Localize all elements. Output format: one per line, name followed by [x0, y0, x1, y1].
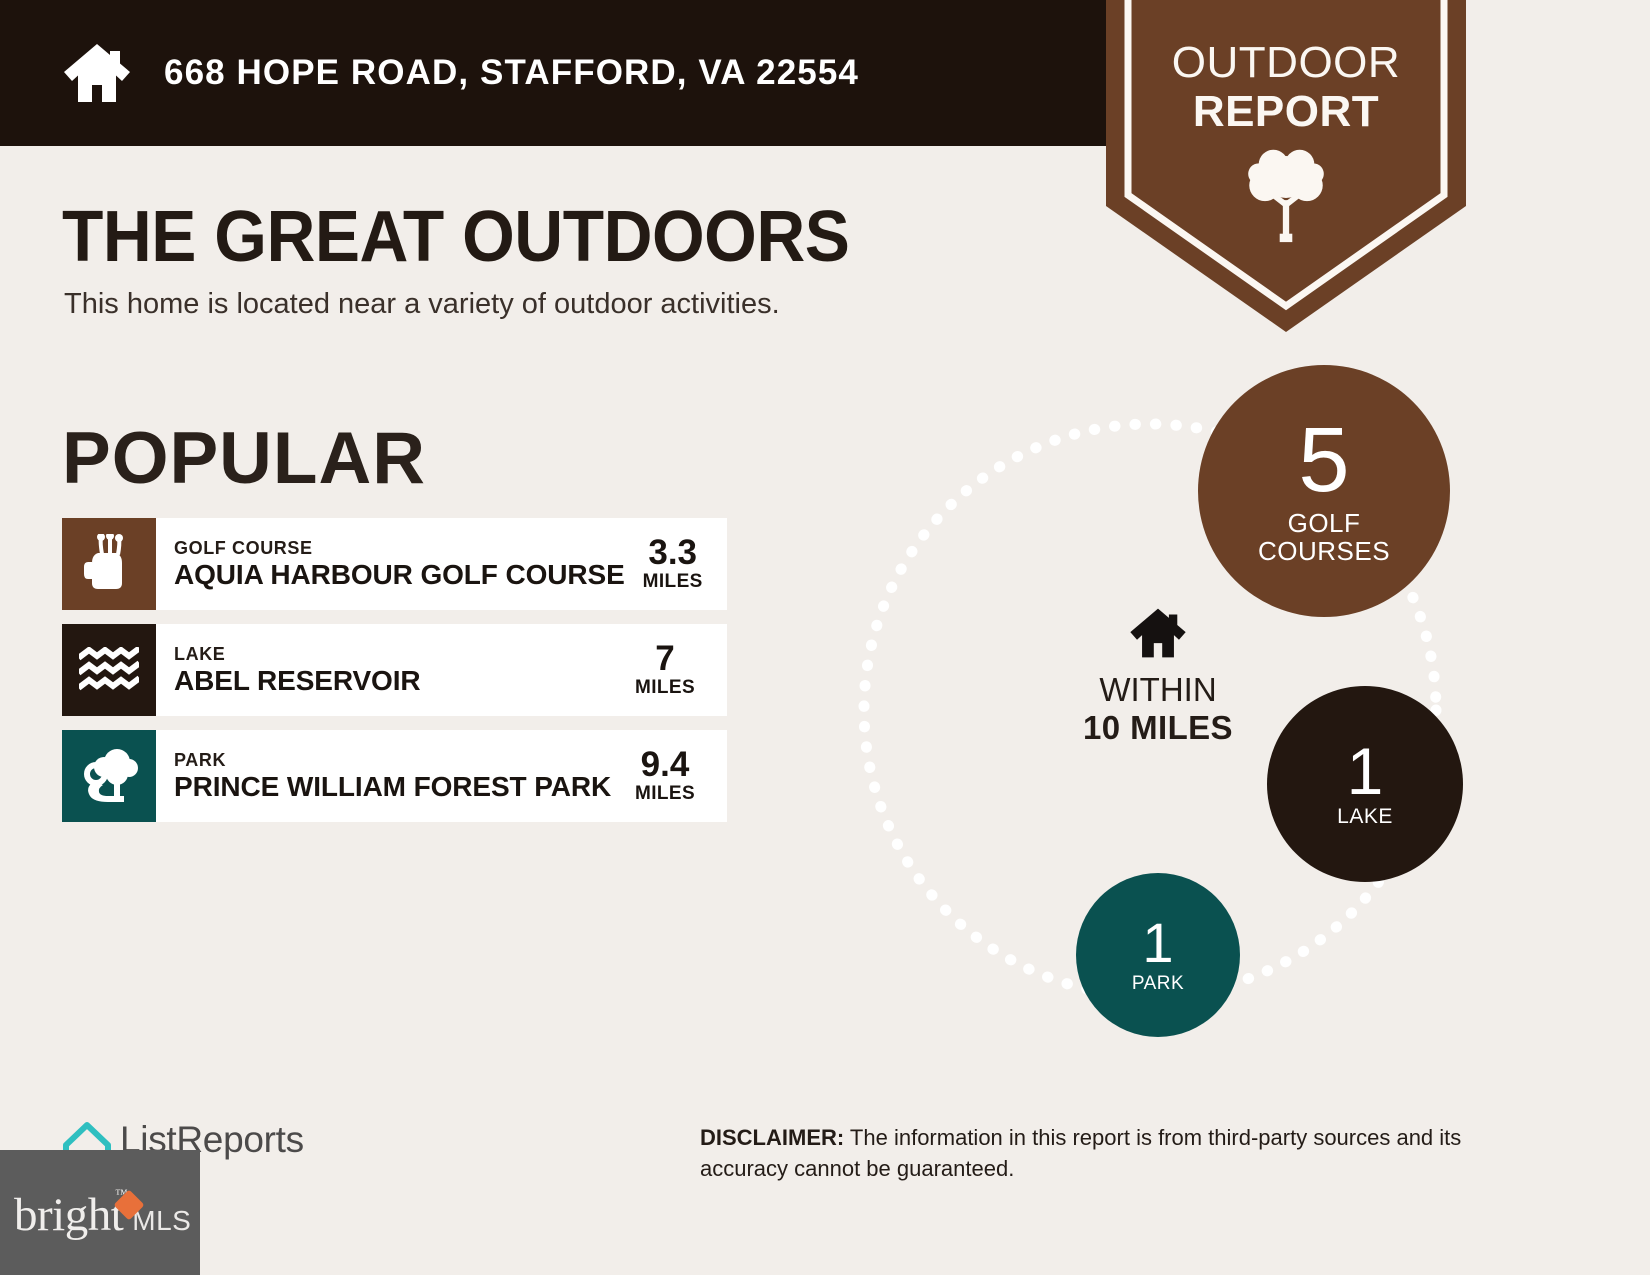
list-item[interactable]: GOLF COURSE AQUIA HARBOUR GOLF COURSE 3.…: [62, 518, 727, 610]
list-item-distance: 7 MILES: [617, 641, 721, 699]
list-item-name: PRINCE WILLIAM FOREST PARK: [174, 771, 617, 803]
stat-circle-park[interactable]: 1 PARK: [1076, 873, 1240, 1037]
golf-courses-label: GOLF COURSES: [1258, 510, 1390, 565]
distance-value: 7: [617, 641, 713, 677]
list-item-distance: 9.4 MILES: [617, 747, 721, 805]
within-10-miles-diagram: WITHIN 10 MILES 5 GOLF COURSES 1 LAKE 1 …: [820, 345, 1540, 1065]
distance-unit: MILES: [625, 571, 721, 593]
outdoor-report-badge: OUTDOOR REPORT: [1106, 0, 1466, 332]
golf-courses-label-line1: GOLF: [1258, 510, 1390, 537]
house-icon: [62, 42, 132, 104]
park-tile: [62, 730, 156, 822]
list-item-category: LAKE: [174, 644, 617, 665]
bright-mls-watermark: bright ™ MLS: [0, 1150, 200, 1275]
list-item[interactable]: PARK PRINCE WILLIAM FOREST PARK 9.4 MILE…: [62, 730, 727, 822]
house-icon: [1126, 607, 1190, 659]
within-label-line2: 10 MILES: [1058, 709, 1258, 747]
list-item-category: PARK: [174, 750, 617, 771]
distance-unit: MILES: [617, 677, 713, 699]
property-address: 668 HOPE ROAD, STAFFORD, VA 22554: [164, 53, 859, 93]
lake-tile: [62, 624, 156, 716]
park-trees-icon: [80, 748, 138, 804]
distance-unit: MILES: [617, 783, 713, 805]
list-item-distance: 3.3 MILES: [625, 535, 729, 593]
golf-courses-count: 5: [1298, 417, 1349, 504]
disclaimer: DISCLAIMER: The information in this repo…: [700, 1122, 1510, 1184]
mls-text: MLS: [132, 1205, 191, 1237]
distance-value: 9.4: [617, 747, 713, 783]
stat-circle-golf-courses[interactable]: 5 GOLF COURSES: [1198, 365, 1450, 617]
diagram-center-label: WITHIN 10 MILES: [1058, 607, 1258, 747]
page-title: THE GREAT OUTDOORS: [62, 196, 849, 278]
within-label-line1: WITHIN: [1058, 671, 1258, 709]
golf-bag-icon: [81, 534, 137, 594]
popular-list: GOLF COURSE AQUIA HARBOUR GOLF COURSE 3.…: [62, 518, 727, 836]
waves-icon: [79, 647, 139, 693]
page-subtitle: This home is located near a variety of o…: [64, 288, 780, 321]
lake-label: LAKE: [1337, 806, 1393, 828]
stat-circle-lake[interactable]: 1 LAKE: [1267, 686, 1463, 882]
distance-value: 3.3: [625, 535, 721, 571]
section-title-popular: POPULAR: [62, 417, 426, 500]
list-item-category: GOLF COURSE: [174, 538, 625, 559]
badge-title: OUTDOOR REPORT: [1106, 38, 1466, 136]
lake-count: 1: [1347, 740, 1384, 803]
list-item[interactable]: LAKE ABEL RESERVOIR 7 MILES: [62, 624, 727, 716]
bright-word-text: bright: [14, 1189, 123, 1241]
park-label: PARK: [1132, 974, 1184, 994]
list-item-name: ABEL RESERVOIR: [174, 665, 617, 697]
outdoor-report-page: 668 HOPE ROAD, STAFFORD, VA 22554 OUTDOO…: [0, 0, 1650, 1275]
bright-wordmark: bright ™: [14, 1188, 123, 1242]
golf-courses-label-line2: COURSES: [1258, 538, 1390, 565]
badge-title-line1: OUTDOOR: [1106, 38, 1466, 87]
page-header: 668 HOPE ROAD, STAFFORD, VA 22554: [0, 0, 1290, 146]
golf-course-tile: [62, 518, 156, 610]
disclaimer-label: DISCLAIMER:: [700, 1125, 844, 1150]
list-item-name: AQUIA HARBOUR GOLF COURSE: [174, 559, 625, 591]
park-count: 1: [1142, 916, 1173, 969]
badge-title-line2: REPORT: [1106, 87, 1466, 136]
